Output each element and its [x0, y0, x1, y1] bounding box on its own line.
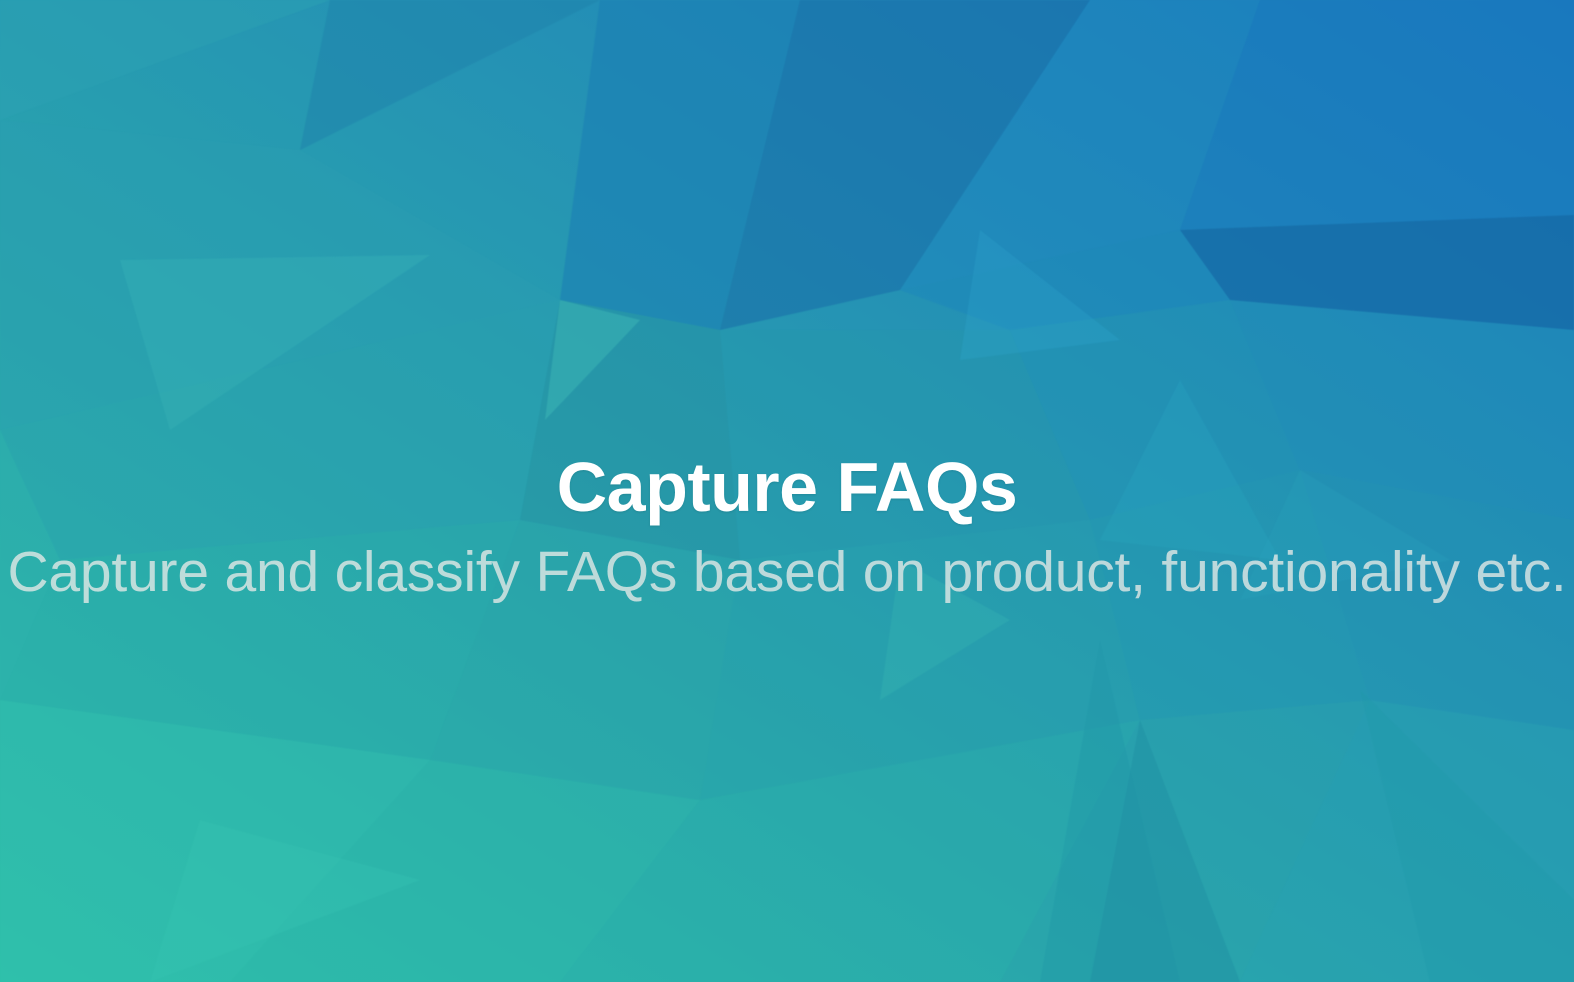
page-subtitle: Capture and classify FAQs based on produ… [0, 543, 1574, 603]
page-title: Capture FAQs [0, 452, 1574, 522]
video-slide-frame: Capture FAQs Capture and classify FAQs b… [0, 0, 1574, 982]
slide-content: Capture FAQs Capture and classify FAQs b… [0, 0, 1574, 982]
